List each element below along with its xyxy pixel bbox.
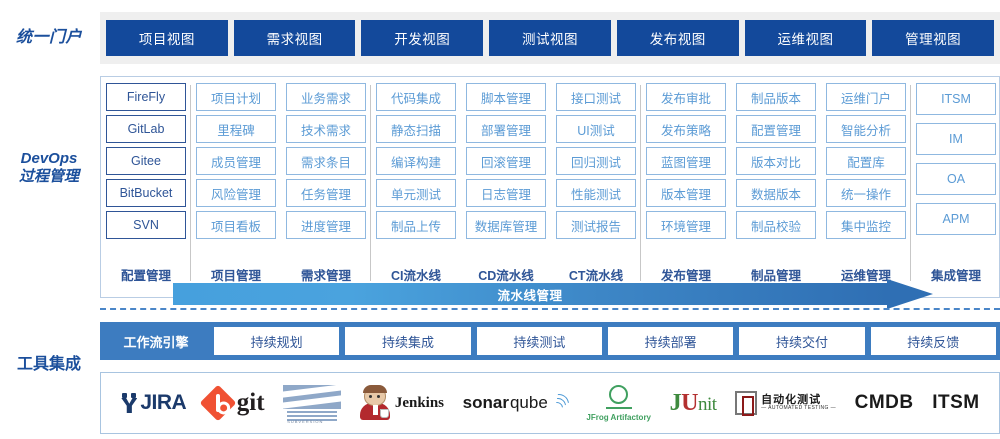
rail-label-unified-portal: 统一门户	[0, 28, 98, 48]
devops-cell[interactable]: 日志管理	[466, 179, 546, 207]
portal-button-5[interactable]: 发布视图	[617, 20, 739, 56]
junit-logo-text-u: U	[681, 390, 698, 416]
devops-column-1: FireFlyGitLabGiteeBitBucketSVN	[101, 83, 191, 261]
portal-button-bar: 项目视图需求视图开发视图测试视图发布视图运维视图管理视图	[100, 12, 1000, 64]
devops-column-label-wrap: 项目管理	[191, 263, 281, 285]
workflow-stage-6[interactable]: 持续反馈	[871, 327, 996, 355]
devops-cell[interactable]: UI测试	[556, 115, 636, 143]
devops-cell[interactable]: Gitee	[106, 147, 186, 175]
devops-column-5: 脚本管理部署管理回滚管理日志管理数据库管理	[461, 83, 551, 261]
portal-button-2[interactable]: 需求视图	[234, 20, 356, 56]
devops-column-label: CD流水线	[478, 265, 534, 284]
devops-cell[interactable]: 环境管理	[646, 211, 726, 239]
devops-column-label: 配置管理	[121, 265, 171, 284]
itsm-logo: ITSM	[932, 381, 979, 425]
jira-mark-icon	[120, 393, 138, 413]
devops-column-8: 制品版本配置管理版本对比数据版本制品校验	[731, 83, 821, 261]
itsm-logo-text: ITSM	[932, 392, 979, 414]
devops-column-label-wrap: CT流水线	[551, 263, 641, 285]
devops-cell[interactable]: ITSM	[916, 83, 996, 115]
devops-cell[interactable]: 风险管理	[196, 179, 276, 207]
subversion-mark-icon: SUBVERSION	[283, 383, 341, 423]
devops-cell[interactable]: 编译构建	[376, 147, 456, 175]
automated-testing-mark-icon	[735, 391, 757, 415]
devops-cell[interactable]: 测试报告	[556, 211, 636, 239]
cmdb-logo: CMDB	[855, 381, 914, 425]
devops-cell[interactable]: 静态扫描	[376, 115, 456, 143]
devops-cell[interactable]: GitLab	[106, 115, 186, 143]
junit-logo-text-rest: nit	[698, 394, 717, 415]
devops-columns: FireFlyGitLabGiteeBitBucketSVN项目计划里程碑成员管…	[101, 83, 1000, 261]
subversion-logo: SUBVERSION	[283, 381, 341, 425]
workflow-engine-bar: 工作流引擎 持续规划持续集成持续测试持续部署持续交付持续反馈	[100, 322, 1000, 360]
devops-column-labels: 配置管理项目管理需求管理CI流水线CD流水线CT流水线发布管理制品管理运维管理集…	[101, 263, 1000, 285]
jenkins-logo-text: Jenkins	[395, 395, 444, 412]
git-mark-icon	[199, 385, 236, 422]
pipeline-arrow-label: 流水线管理	[173, 283, 887, 305]
pipeline-arrow: 流水线管理	[173, 283, 933, 305]
automated-testing-text-en: — AUTOMATED TESTING —	[761, 406, 836, 411]
devops-column-9: 运维门户智能分析配置库统一操作集中监控	[821, 83, 911, 261]
tool-logo-strip: JIRA git SUBVERSION Jenkins	[100, 372, 1000, 434]
devops-cell[interactable]: 蓝图管理	[646, 147, 726, 175]
portal-button-4[interactable]: 测试视图	[489, 20, 611, 56]
devops-cell[interactable]: 需求条目	[286, 147, 366, 175]
devops-column-label-wrap: 发布管理	[641, 263, 731, 285]
pipeline-arrow-head-icon	[887, 279, 933, 309]
devops-cell[interactable]: 代码集成	[376, 83, 456, 111]
devops-column-label-wrap: CD流水线	[461, 263, 551, 285]
junit-logo-text-j: J	[670, 390, 682, 416]
jfrog-logo-text: JFrog Artifactory	[586, 413, 651, 422]
devops-cell[interactable]: 制品校验	[736, 211, 816, 239]
devops-column-label-wrap: 制品管理	[731, 263, 821, 285]
sonarqube-wave-icon	[550, 393, 568, 413]
devops-column-label: CI流水线	[391, 265, 441, 284]
devops-column-label-wrap: 配置管理	[101, 263, 191, 285]
devops-cell[interactable]: 项目看板	[196, 211, 276, 239]
automated-testing-logo: 自动化测试 — AUTOMATED TESTING —	[735, 381, 836, 425]
devops-cell[interactable]: 任务管理	[286, 179, 366, 207]
devops-cell[interactable]: IM	[916, 123, 996, 155]
devops-cell[interactable]: OA	[916, 163, 996, 195]
devops-cell[interactable]: SVN	[106, 211, 186, 239]
devops-cell[interactable]: 版本管理	[646, 179, 726, 207]
devops-cell[interactable]: 数据版本	[736, 179, 816, 207]
devops-process-panel: FireFlyGitLabGiteeBitBucketSVN项目计划里程碑成员管…	[100, 76, 1000, 298]
portal-button-7[interactable]: 管理视图	[872, 20, 994, 56]
jenkins-logo: Jenkins	[360, 381, 444, 425]
workflow-stage-2[interactable]: 持续集成	[345, 327, 470, 355]
sonarqube-logo-text-b: qube	[510, 393, 548, 413]
devops-cell[interactable]: 成员管理	[196, 147, 276, 175]
rail-label-devops-line2: 过程管理	[0, 168, 98, 186]
portal-button-3[interactable]: 开发视图	[361, 20, 483, 56]
portal-button-6[interactable]: 运维视图	[745, 20, 867, 56]
devops-cell[interactable]: 发布策略	[646, 115, 726, 143]
cmdb-logo-text: CMDB	[855, 392, 914, 414]
devops-cell[interactable]: 智能分析	[826, 115, 906, 143]
jira-logo: JIRA	[120, 381, 186, 425]
devops-column-label: 制品管理	[751, 265, 801, 284]
rail-label-tool-integration: 工具集成	[0, 355, 98, 375]
workflow-stage-list: 持续规划持续集成持续测试持续部署持续交付持续反馈	[214, 327, 996, 355]
devops-column-2: 项目计划里程碑成员管理风险管理项目看板	[191, 83, 281, 261]
devops-cell[interactable]: 制品版本	[736, 83, 816, 111]
devops-column-label: 运维管理	[841, 265, 891, 284]
devops-cell[interactable]: 脚本管理	[466, 83, 546, 111]
devops-column-label-wrap: 需求管理	[281, 263, 371, 285]
devops-column-label: 项目管理	[211, 265, 261, 284]
devops-cell[interactable]: 接口测试	[556, 83, 636, 111]
devops-cell[interactable]: 配置库	[826, 147, 906, 175]
devops-column-label: 需求管理	[301, 265, 351, 284]
section-divider	[100, 308, 1000, 310]
devops-cell[interactable]: FireFly	[106, 83, 186, 111]
devops-column-6: 接口测试UI测试回归测试性能测试测试报告	[551, 83, 641, 261]
subversion-logo-text: SUBVERSION	[287, 419, 323, 424]
devops-cell[interactable]: 数据库管理	[466, 211, 546, 239]
devops-cell[interactable]: 性能测试	[556, 179, 636, 207]
devops-cell[interactable]: 配置管理	[736, 115, 816, 143]
devops-column-label-wrap: CI流水线	[371, 263, 461, 285]
workflow-engine-label: 工作流引擎	[104, 327, 208, 355]
devops-cell[interactable]: 单元测试	[376, 179, 456, 207]
devops-cell[interactable]: 统一操作	[826, 179, 906, 207]
devops-column-label: 发布管理	[661, 265, 711, 284]
workflow-stage-1[interactable]: 持续规划	[214, 327, 339, 355]
jfrog-bar-icon	[606, 407, 632, 409]
git-logo-text: git	[237, 389, 265, 417]
sonarqube-logo-text-a: sonar	[463, 393, 509, 413]
workflow-stage-5[interactable]: 持续交付	[739, 327, 864, 355]
devops-cell[interactable]: 回归测试	[556, 147, 636, 175]
devops-cell[interactable]: 里程碑	[196, 115, 276, 143]
workflow-stage-3[interactable]: 持续测试	[477, 327, 602, 355]
devops-cell[interactable]: 发布审批	[646, 83, 726, 111]
devops-column-3: 业务需求技术需求需求条目任务管理进度管理	[281, 83, 371, 261]
devops-cell[interactable]: 技术需求	[286, 115, 366, 143]
devops-platform-diagram: 统一门户 DevOps 过程管理 工具集成 项目视图需求视图开发视图测试视图发布…	[0, 0, 1000, 439]
devops-column-4: 代码集成静态扫描编译构建单元测试制品上传	[371, 83, 461, 261]
portal-button-1[interactable]: 项目视图	[106, 20, 228, 56]
devops-cell[interactable]: 项目计划	[196, 83, 276, 111]
junit-logo: JUnit	[670, 381, 717, 425]
jfrog-ring-icon	[609, 385, 628, 404]
jfrog-artifactory-logo: JFrog Artifactory	[586, 381, 651, 425]
devops-cell[interactable]: 部署管理	[466, 115, 546, 143]
workflow-stage-4[interactable]: 持续部署	[608, 327, 733, 355]
git-logo: git	[205, 381, 265, 425]
devops-column-label: CT流水线	[569, 265, 623, 284]
devops-column-label: 集成管理	[931, 265, 981, 284]
devops-cell[interactable]: 版本对比	[736, 147, 816, 175]
devops-cell[interactable]: BitBucket	[106, 179, 186, 207]
devops-column-7: 发布审批发布策略蓝图管理版本管理环境管理	[641, 83, 731, 261]
jira-logo-text: JIRA	[140, 391, 186, 415]
devops-cell[interactable]: 回滚管理	[466, 147, 546, 175]
rail-label-devops-line1: DevOps	[21, 150, 78, 167]
devops-column-10: ITSMIMOAAPM	[911, 83, 1000, 261]
devops-cell[interactable]: 业务需求	[286, 83, 366, 111]
rail-label-devops: DevOps 过程管理	[0, 150, 98, 187]
devops-cell[interactable]: 制品上传	[376, 211, 456, 239]
devops-cell[interactable]: 进度管理	[286, 211, 366, 239]
sonarqube-logo: sonar qube	[463, 381, 568, 425]
devops-cell[interactable]: 运维门户	[826, 83, 906, 111]
devops-cell[interactable]: APM	[916, 203, 996, 235]
devops-cell[interactable]: 集中监控	[826, 211, 906, 239]
jenkins-butler-icon	[360, 386, 390, 420]
